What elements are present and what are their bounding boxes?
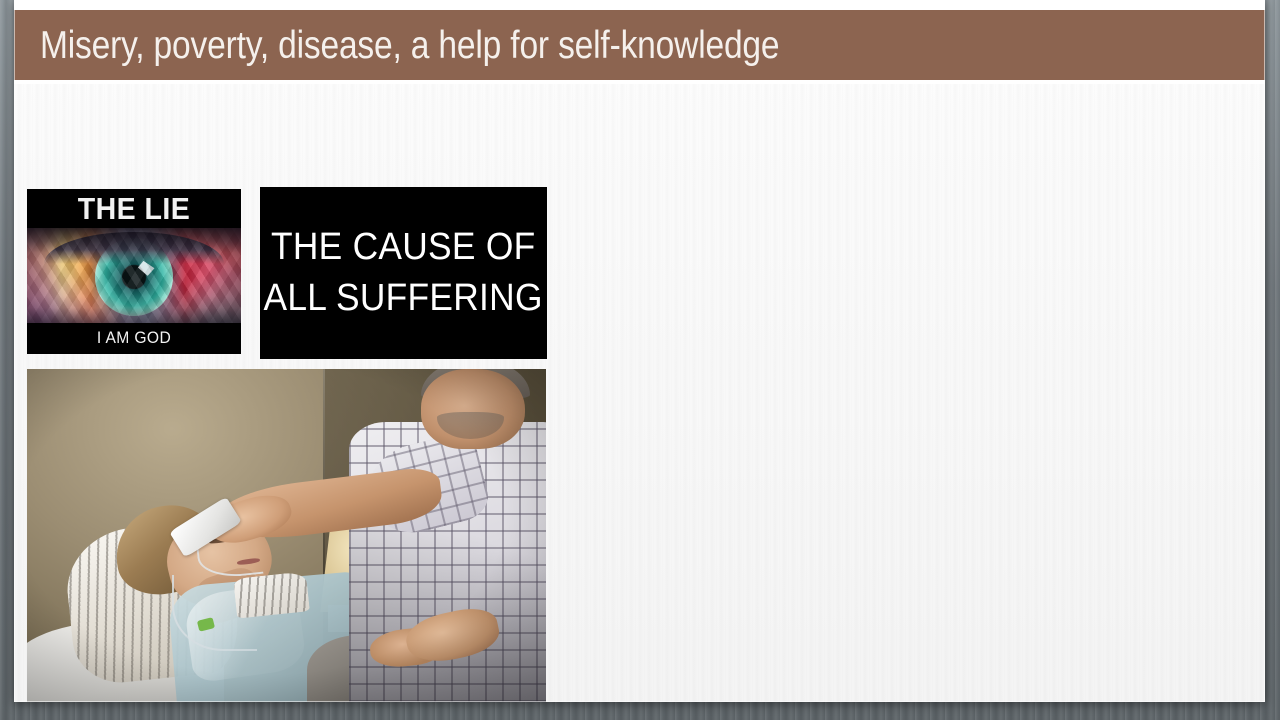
eye-highlight-shape: [137, 260, 156, 277]
low-poly-eye-icon: [27, 228, 241, 323]
presentation-slide: Misery, poverty, disease, a help for sel…: [14, 0, 1265, 702]
eye-lash-shape: [44, 232, 224, 264]
photo-vignette: [27, 369, 546, 702]
the-lie-image-panel: THE LIE I AM GOD: [27, 189, 241, 354]
slide-title: Misery, poverty, disease, a help for sel…: [40, 26, 779, 65]
cause-line-1: THE CAUSE OF: [271, 222, 536, 273]
cause-of-all-suffering-panel: THE CAUSE OF ALL SUFFERING: [260, 187, 547, 359]
the-lie-heading: THE LIE: [36, 190, 233, 227]
slide-title-bar: Misery, poverty, disease, a help for sel…: [14, 10, 1265, 80]
caregiver-patient-photo: [27, 369, 546, 702]
cause-line-2: ALL SUFFERING: [264, 273, 543, 324]
desktop-frame: Misery, poverty, disease, a help for sel…: [0, 0, 1280, 720]
the-lie-caption: I AM GOD: [36, 326, 233, 350]
